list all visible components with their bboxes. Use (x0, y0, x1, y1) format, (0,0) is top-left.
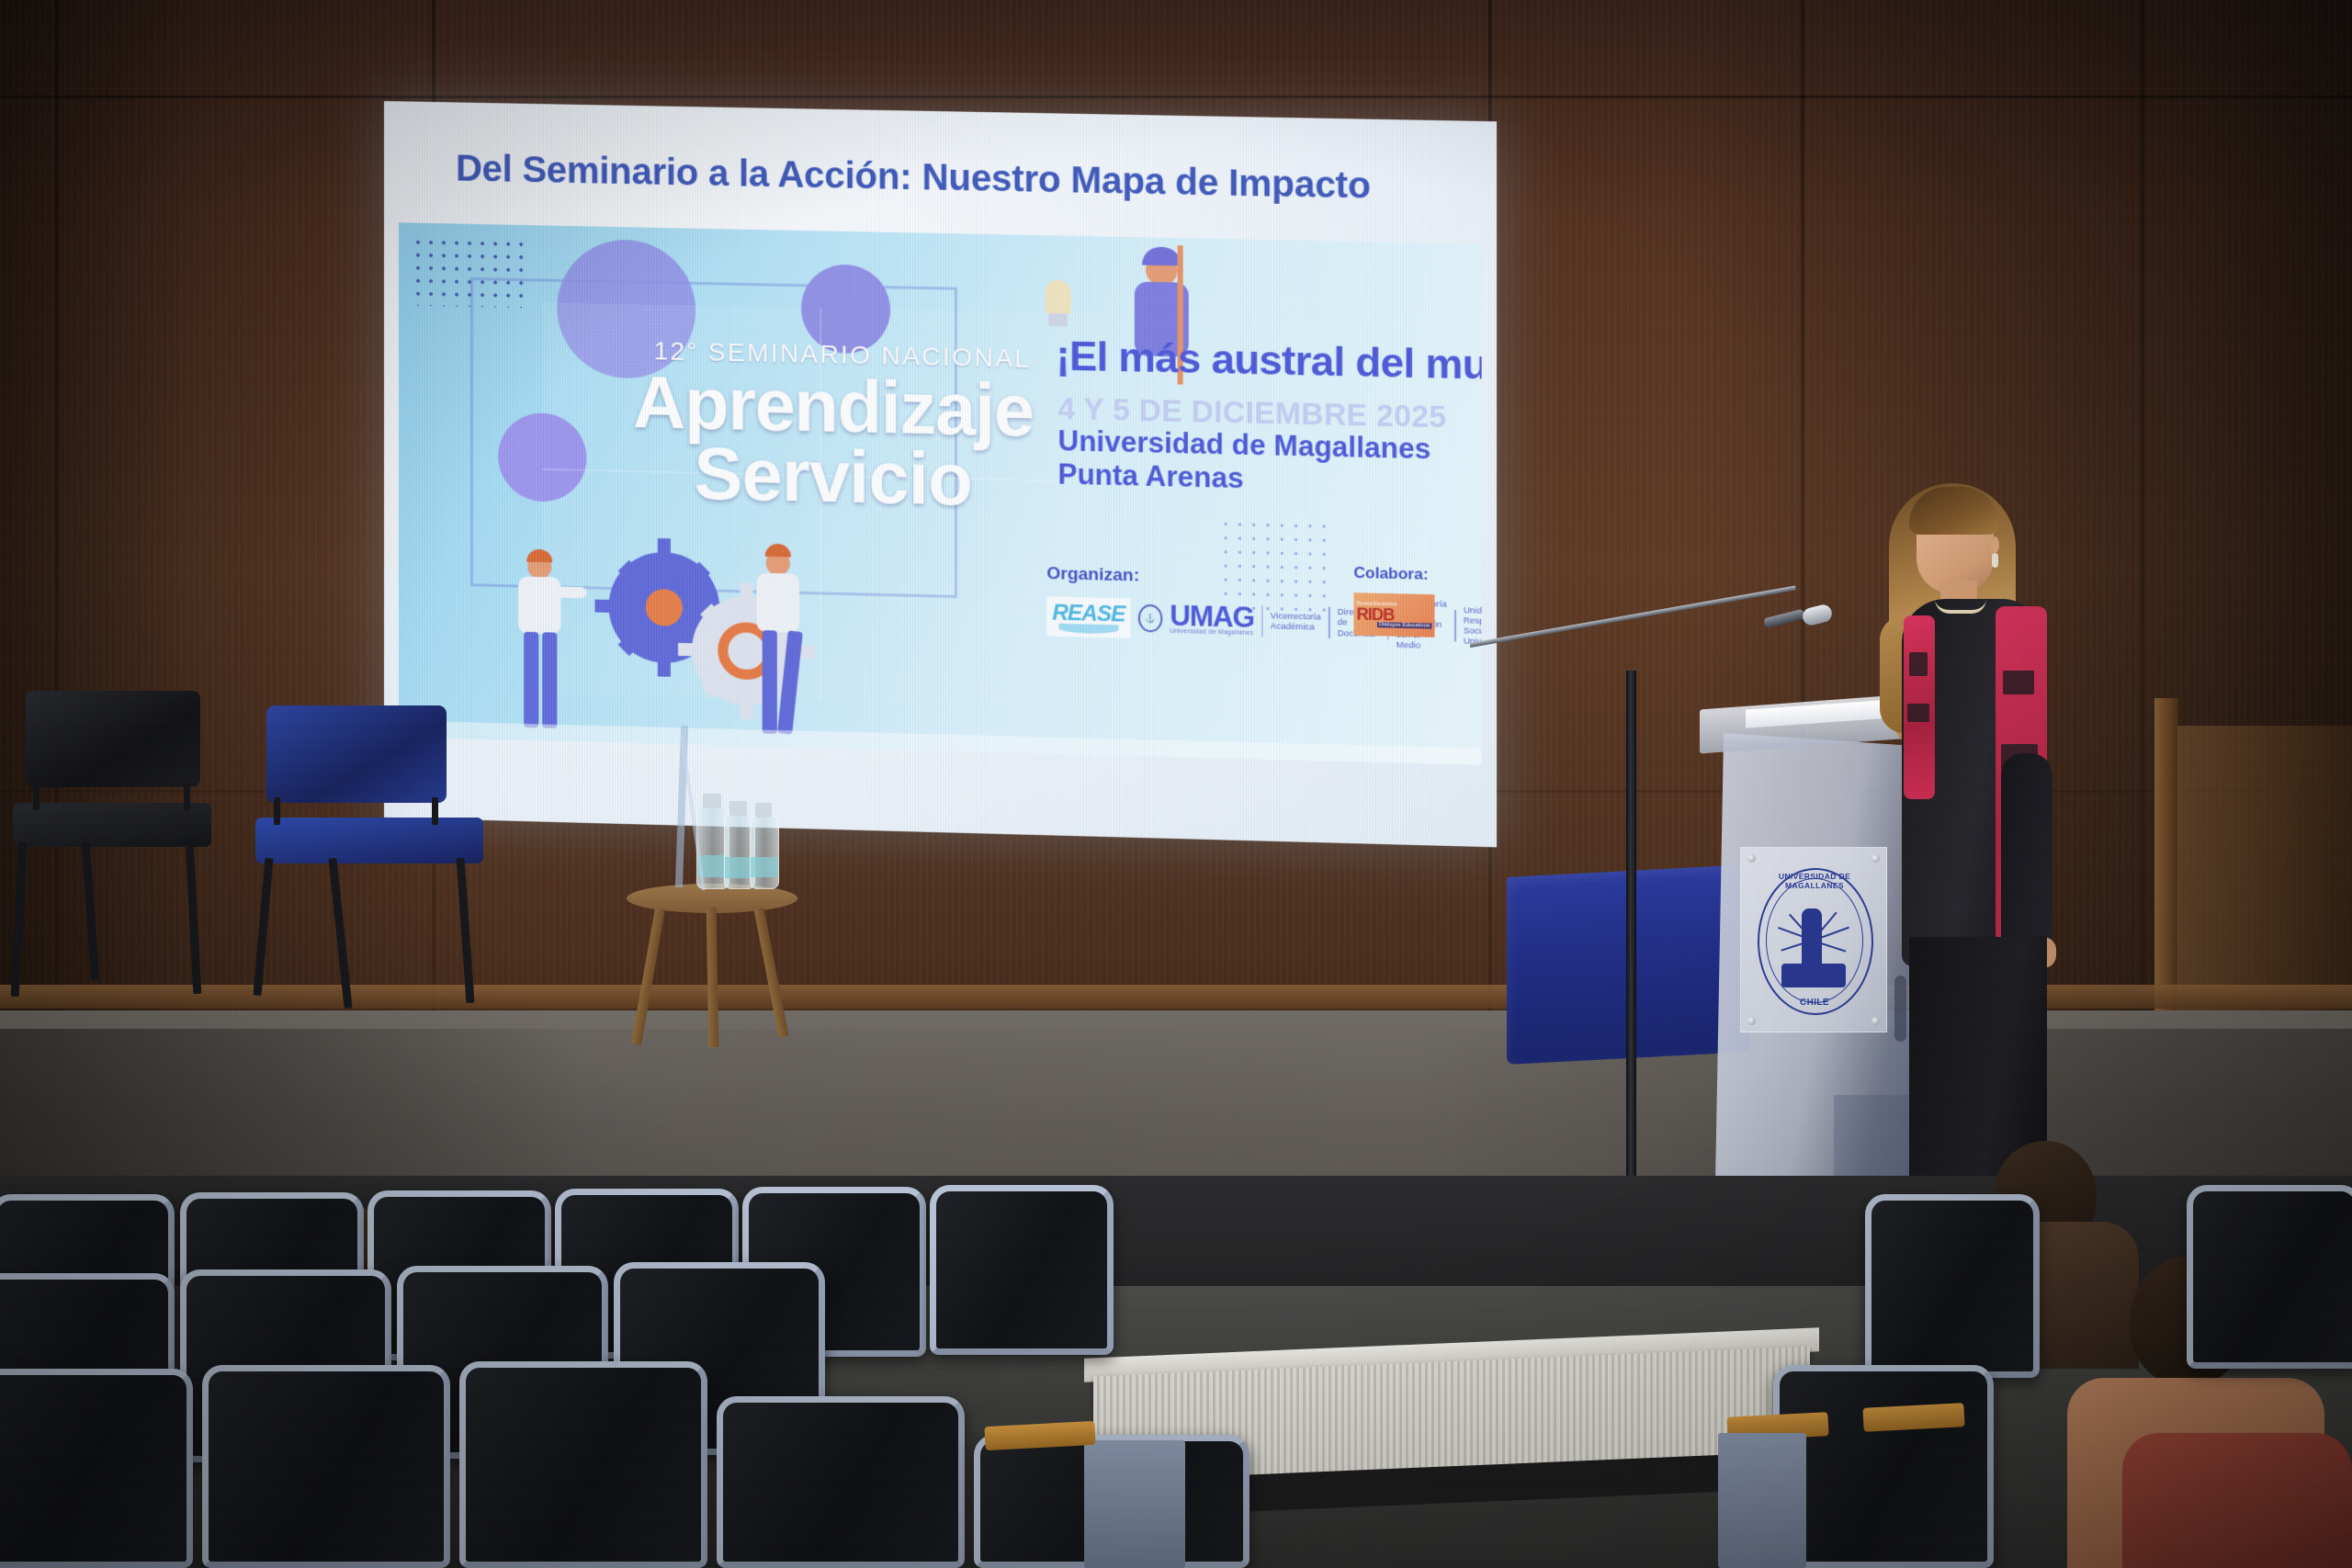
slide-title: Del Seminario a la Acción: Nuestro Mapa … (456, 148, 1423, 208)
seat-back[interactable] (930, 1185, 1114, 1355)
divider (1261, 605, 1263, 637)
bottle-cap (755, 803, 772, 818)
seat-back[interactable] (0, 1369, 193, 1568)
illustration-figure-right (750, 543, 833, 743)
earring (1992, 553, 1998, 568)
necklace (1935, 599, 1986, 614)
speaker-arm (2001, 753, 2052, 964)
audience-coat (2122, 1433, 2352, 1568)
seat-side-panel (1718, 1433, 1806, 1568)
mic-stand-pole (1626, 671, 1636, 1222)
seat-back[interactable] (1865, 1194, 2040, 1378)
speaker-ear (1990, 536, 1999, 553)
stool-leg (707, 908, 719, 1047)
rease-wave-decoration (1058, 623, 1118, 634)
bottle-cap (703, 794, 721, 808)
water-bottle (750, 816, 779, 889)
seminar-poster-image: 12° SEMINARIO NACIONAL Aprendizaje Servi… (399, 222, 1482, 764)
lightbulb-icon (1045, 280, 1070, 316)
collaborators-label: Colabora: (1353, 564, 1428, 584)
bottle-label (751, 857, 778, 877)
wall-seam-horizontal (0, 96, 2352, 98)
auditorium-scene: Del Seminario a la Acción: Nuestro Mapa … (0, 0, 2352, 1568)
crest-pedestal (1781, 964, 1846, 987)
umag-logo: UMAG Universidad de Magallanes (1170, 603, 1254, 637)
tripod-stool (627, 863, 797, 1043)
stool-leg (631, 908, 665, 1045)
poster-tagline: ¡El más austral del mundo! (1056, 332, 1430, 388)
umag-logo-text: UMAG (1170, 603, 1254, 630)
plaque-screw (1747, 854, 1756, 863)
seat-back[interactable] (717, 1396, 965, 1568)
seat-back[interactable] (202, 1365, 450, 1568)
collaborator-logo: Revista Electrónica RIDB Diálogos Educat… (1353, 592, 1434, 637)
crest-top-text: UNIVERSIDAD DE MAGALLANES (1763, 872, 1866, 890)
speaker-at-podium (1856, 478, 2076, 1240)
ridb-logo-main: RIDB (1356, 606, 1431, 623)
plaque-screw (1747, 1017, 1756, 1025)
projection-screen: Del Seminario a la Acción: Nuestro Mapa … (384, 101, 1497, 847)
divider (1454, 610, 1456, 641)
illustration-figure-left (514, 548, 597, 735)
department-vicerrectoria-academica: Vicerrectoría Académica (1271, 611, 1321, 633)
stage-chair-blue (241, 705, 489, 1018)
seat-side-panel (1084, 1440, 1185, 1568)
lightbulb-base (1048, 313, 1067, 327)
seat-back[interactable] (1773, 1365, 1994, 1568)
divider (1329, 607, 1330, 638)
poster-footer-strip (399, 720, 1482, 764)
poster-place: Universidad de Magallanes Punta Arenas (1057, 424, 1430, 499)
umag-crest-icon: UNIVERSIDAD DE MAGALLANES CHILE (1758, 868, 1870, 1011)
stool-leg (754, 908, 789, 1037)
crest-bottom-text: CHILE (1763, 998, 1866, 1008)
bottle-cap (729, 801, 747, 816)
stage-chair-black (9, 691, 216, 1012)
umag-seal-icon: ⚓ (1138, 604, 1163, 633)
seat-back[interactable] (459, 1361, 707, 1568)
rease-logo: REASE (1046, 596, 1130, 638)
speaker-scarf-left (1904, 615, 1935, 799)
poster-heading: Aprendizaje Servicio (573, 366, 1093, 517)
figure-hat (1142, 246, 1182, 265)
ridb-logo-tag: Diálogos Educativos (1377, 622, 1432, 629)
organizers-label: Organizan: (1046, 564, 1139, 587)
seat-back[interactable] (2187, 1185, 2352, 1369)
crest-statue-figure (1802, 908, 1822, 969)
umag-logo-subtext: Universidad de Magallanes (1170, 628, 1254, 637)
